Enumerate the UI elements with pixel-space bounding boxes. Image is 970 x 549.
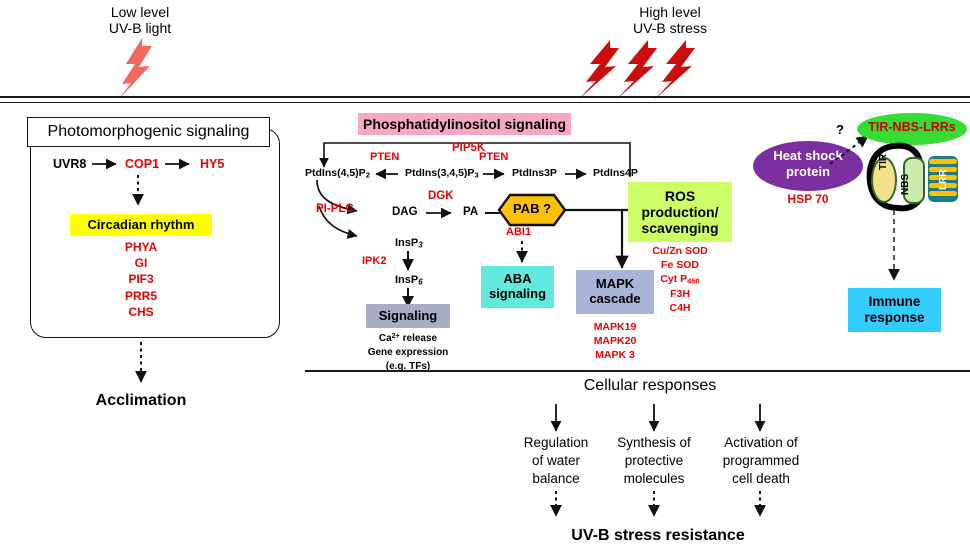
tir-nbs-lrrs-label: TIR-NBS-LRRs <box>856 120 968 134</box>
arrow-to-response-3 <box>752 404 768 438</box>
ca-tail: release <box>400 333 437 344</box>
hsp70-name: HSP 70 <box>752 193 864 207</box>
uvb-stress-resistance-label: UV-B stress resistance <box>538 527 778 545</box>
cellular-responses-divider <box>305 370 970 372</box>
node-dag: DAG <box>392 206 418 219</box>
response-1-line2: of water <box>503 452 609 470</box>
insp3-sub: 3 <box>418 241 422 250</box>
gene-mapk19: MAPK19 <box>576 320 654 334</box>
gene-prr5: PRR5 <box>81 288 201 304</box>
gene-c4h: C4H <box>628 301 732 315</box>
gene-cyt-p450: Cyt P450 <box>628 272 732 287</box>
immune-line1: Immune <box>869 294 921 310</box>
cytp-sub: 450 <box>687 277 700 286</box>
pi-signaling-title: Phosphatidylinositol signaling <box>363 116 566 132</box>
response-1-line3: balance <box>503 470 609 488</box>
node-uvr8: UVR8 <box>53 157 86 171</box>
membrane-line-inner <box>0 102 970 103</box>
ros-box: ROS production/ scavenging <box>628 182 732 242</box>
low-uvb-bolt-icon <box>110 38 170 100</box>
insp6-text: InsP <box>395 274 418 286</box>
arrow-dag-to-pa <box>424 205 456 221</box>
low-uvb-label: Low level UV-B light <box>85 4 195 36</box>
immune-response-box: Immune response <box>848 288 941 332</box>
low-uvb-line1: Low level <box>85 4 195 20</box>
node-insp6: InsP6 <box>395 274 423 287</box>
signaling-label: Signaling <box>379 309 438 324</box>
ptdins45p2-text: PtdIns(4,5)P <box>305 167 366 179</box>
cytp-text: Cyt P <box>660 273 687 285</box>
signaling-box: Signaling <box>366 304 450 328</box>
node-ptdins3p: PtdIns3P <box>512 167 557 179</box>
enzyme-pten-left: PTEN <box>370 151 399 164</box>
note-ca-release: Ca2+ release <box>356 331 460 346</box>
enzyme-pten-right: PTEN <box>479 151 508 164</box>
question-mark-label: ? <box>836 123 844 138</box>
gene-cuzn-sod: Cu/Zn SOD <box>628 244 732 258</box>
response-3-line1: Activation of <box>702 434 820 452</box>
gene-f3h: F3H <box>628 287 732 301</box>
ros-line3: scavenging <box>641 220 718 236</box>
node-ptdins45p2: PtdIns(4,5)P2 <box>305 167 370 180</box>
immune-line2: response <box>864 310 924 326</box>
photomorphogenic-title: Photomorphogenic signaling <box>48 123 250 141</box>
pab-label: PAB ? <box>498 202 566 217</box>
arrow-to-response-2 <box>646 404 662 438</box>
response-2: Synthesis of protective molecules <box>598 434 710 489</box>
arrow-abi1-to-aba <box>514 241 530 269</box>
node-cop1: COP1 <box>125 157 159 171</box>
insp6-sub: 6 <box>418 278 422 287</box>
response-3-line3: cell death <box>702 470 820 488</box>
note-tfs: (e.g. TFs) <box>356 360 460 374</box>
node-hy5: HY5 <box>200 157 224 171</box>
gene-mapk3: MAPK 3 <box>576 348 654 362</box>
arrow-3p-to-4p <box>563 166 591 182</box>
high-uvb-line1: High level <box>605 4 735 20</box>
response-3-line2: programmed <box>702 452 820 470</box>
arrow-hy5-to-circadian <box>130 175 146 213</box>
insp3-text: InsP <box>395 237 418 249</box>
mapk-gene-list: MAPK19 MAPK20 MAPK 3 <box>576 320 654 363</box>
arrow-response-2-to-outcome <box>646 491 662 523</box>
arrow-to-response-1 <box>548 404 564 438</box>
aba-line1: ABA <box>503 272 531 287</box>
ros-gene-list: Cu/Zn SOD Fe SOD Cyt P450 F3H C4H <box>628 244 732 316</box>
response-2-line2: protective <box>598 452 710 470</box>
circadian-rhythm-label: Circadian rhythm <box>88 218 195 233</box>
gene-gi: GI <box>81 255 201 271</box>
ca-text: Ca <box>379 333 392 344</box>
gene-mapk20: MAPK20 <box>576 334 654 348</box>
enzyme-ipk2: IPK2 <box>362 255 386 268</box>
arrow-panel-to-acclimation <box>133 342 149 390</box>
response-2-line3: molecules <box>598 470 710 488</box>
membrane-line-outer <box>0 96 970 98</box>
domain-nbs-label: NBS <box>900 174 912 195</box>
node-ptdins345p3: PtdIns(3,4,5)P3 <box>405 167 479 180</box>
pi-signaling-header: Phosphatidylinositol signaling <box>358 113 571 135</box>
node-insp3: InsP3 <box>395 237 423 250</box>
circadian-gene-list: PHYA GI PIF3 PRR5 CHS <box>81 239 201 320</box>
gene-pif3: PIF3 <box>81 271 201 287</box>
circadian-rhythm-box: Circadian rhythm <box>70 214 212 236</box>
ros-line2: production/ <box>642 204 719 220</box>
node-ptdins4p: PtdIns4P <box>593 167 638 179</box>
arrow-response-1-to-outcome <box>548 491 564 523</box>
aba-line2: signaling <box>489 287 546 302</box>
arrow-345p3-to-3p <box>481 166 509 182</box>
gene-phya: PHYA <box>81 239 201 255</box>
ca-sup: 2+ <box>392 331 400 340</box>
arrow-uvr8-to-cop1 <box>90 156 122 172</box>
signaling-notes: Ca2+ release Gene expression (e.g. TFs) <box>356 331 460 374</box>
response-2-line1: Synthesis of <box>598 434 710 452</box>
ptdins345p3-text: PtdIns(3,4,5)P <box>405 167 474 179</box>
low-uvb-line2: UV-B light <box>85 20 195 36</box>
response-3: Activation of programmed cell death <box>702 434 820 489</box>
high-uvb-bolts-icon <box>572 40 752 100</box>
node-pa: PA <box>463 206 478 219</box>
enzyme-abi1: ABI1 <box>506 226 531 239</box>
acclimation-label: Acclimation <box>76 392 206 410</box>
high-uvb-line2: UV-B stress <box>605 20 735 36</box>
gene-chs: CHS <box>81 304 201 320</box>
aba-signaling-box: ABA signaling <box>481 266 554 308</box>
domain-lrr-label: LRR <box>938 169 950 190</box>
note-gene-expression: Gene expression <box>356 346 460 360</box>
ptdins345p3-sub: 3 <box>474 171 478 180</box>
arrow-receptor-to-immune <box>886 210 902 288</box>
gene-fe-sod: Fe SOD <box>628 258 732 272</box>
enzyme-dgk: DGK <box>428 190 454 203</box>
arrow-response-3-to-outcome <box>752 491 768 523</box>
photomorphogenic-title-box: Photomorphogenic signaling <box>27 117 270 147</box>
ros-line1: ROS <box>665 188 695 204</box>
cellular-responses-title: Cellular responses <box>540 377 760 395</box>
high-uvb-label: High level UV-B stress <box>605 4 735 36</box>
response-1-line1: Regulation <box>503 434 609 452</box>
arrow-cop1-to-hy5 <box>163 156 195 172</box>
ptdins45p2-sub: 2 <box>366 171 370 180</box>
enzyme-pi-plc: PI-PLC <box>316 203 354 216</box>
domain-tir-label: TIR <box>878 154 890 170</box>
response-1: Regulation of water balance <box>503 434 609 489</box>
